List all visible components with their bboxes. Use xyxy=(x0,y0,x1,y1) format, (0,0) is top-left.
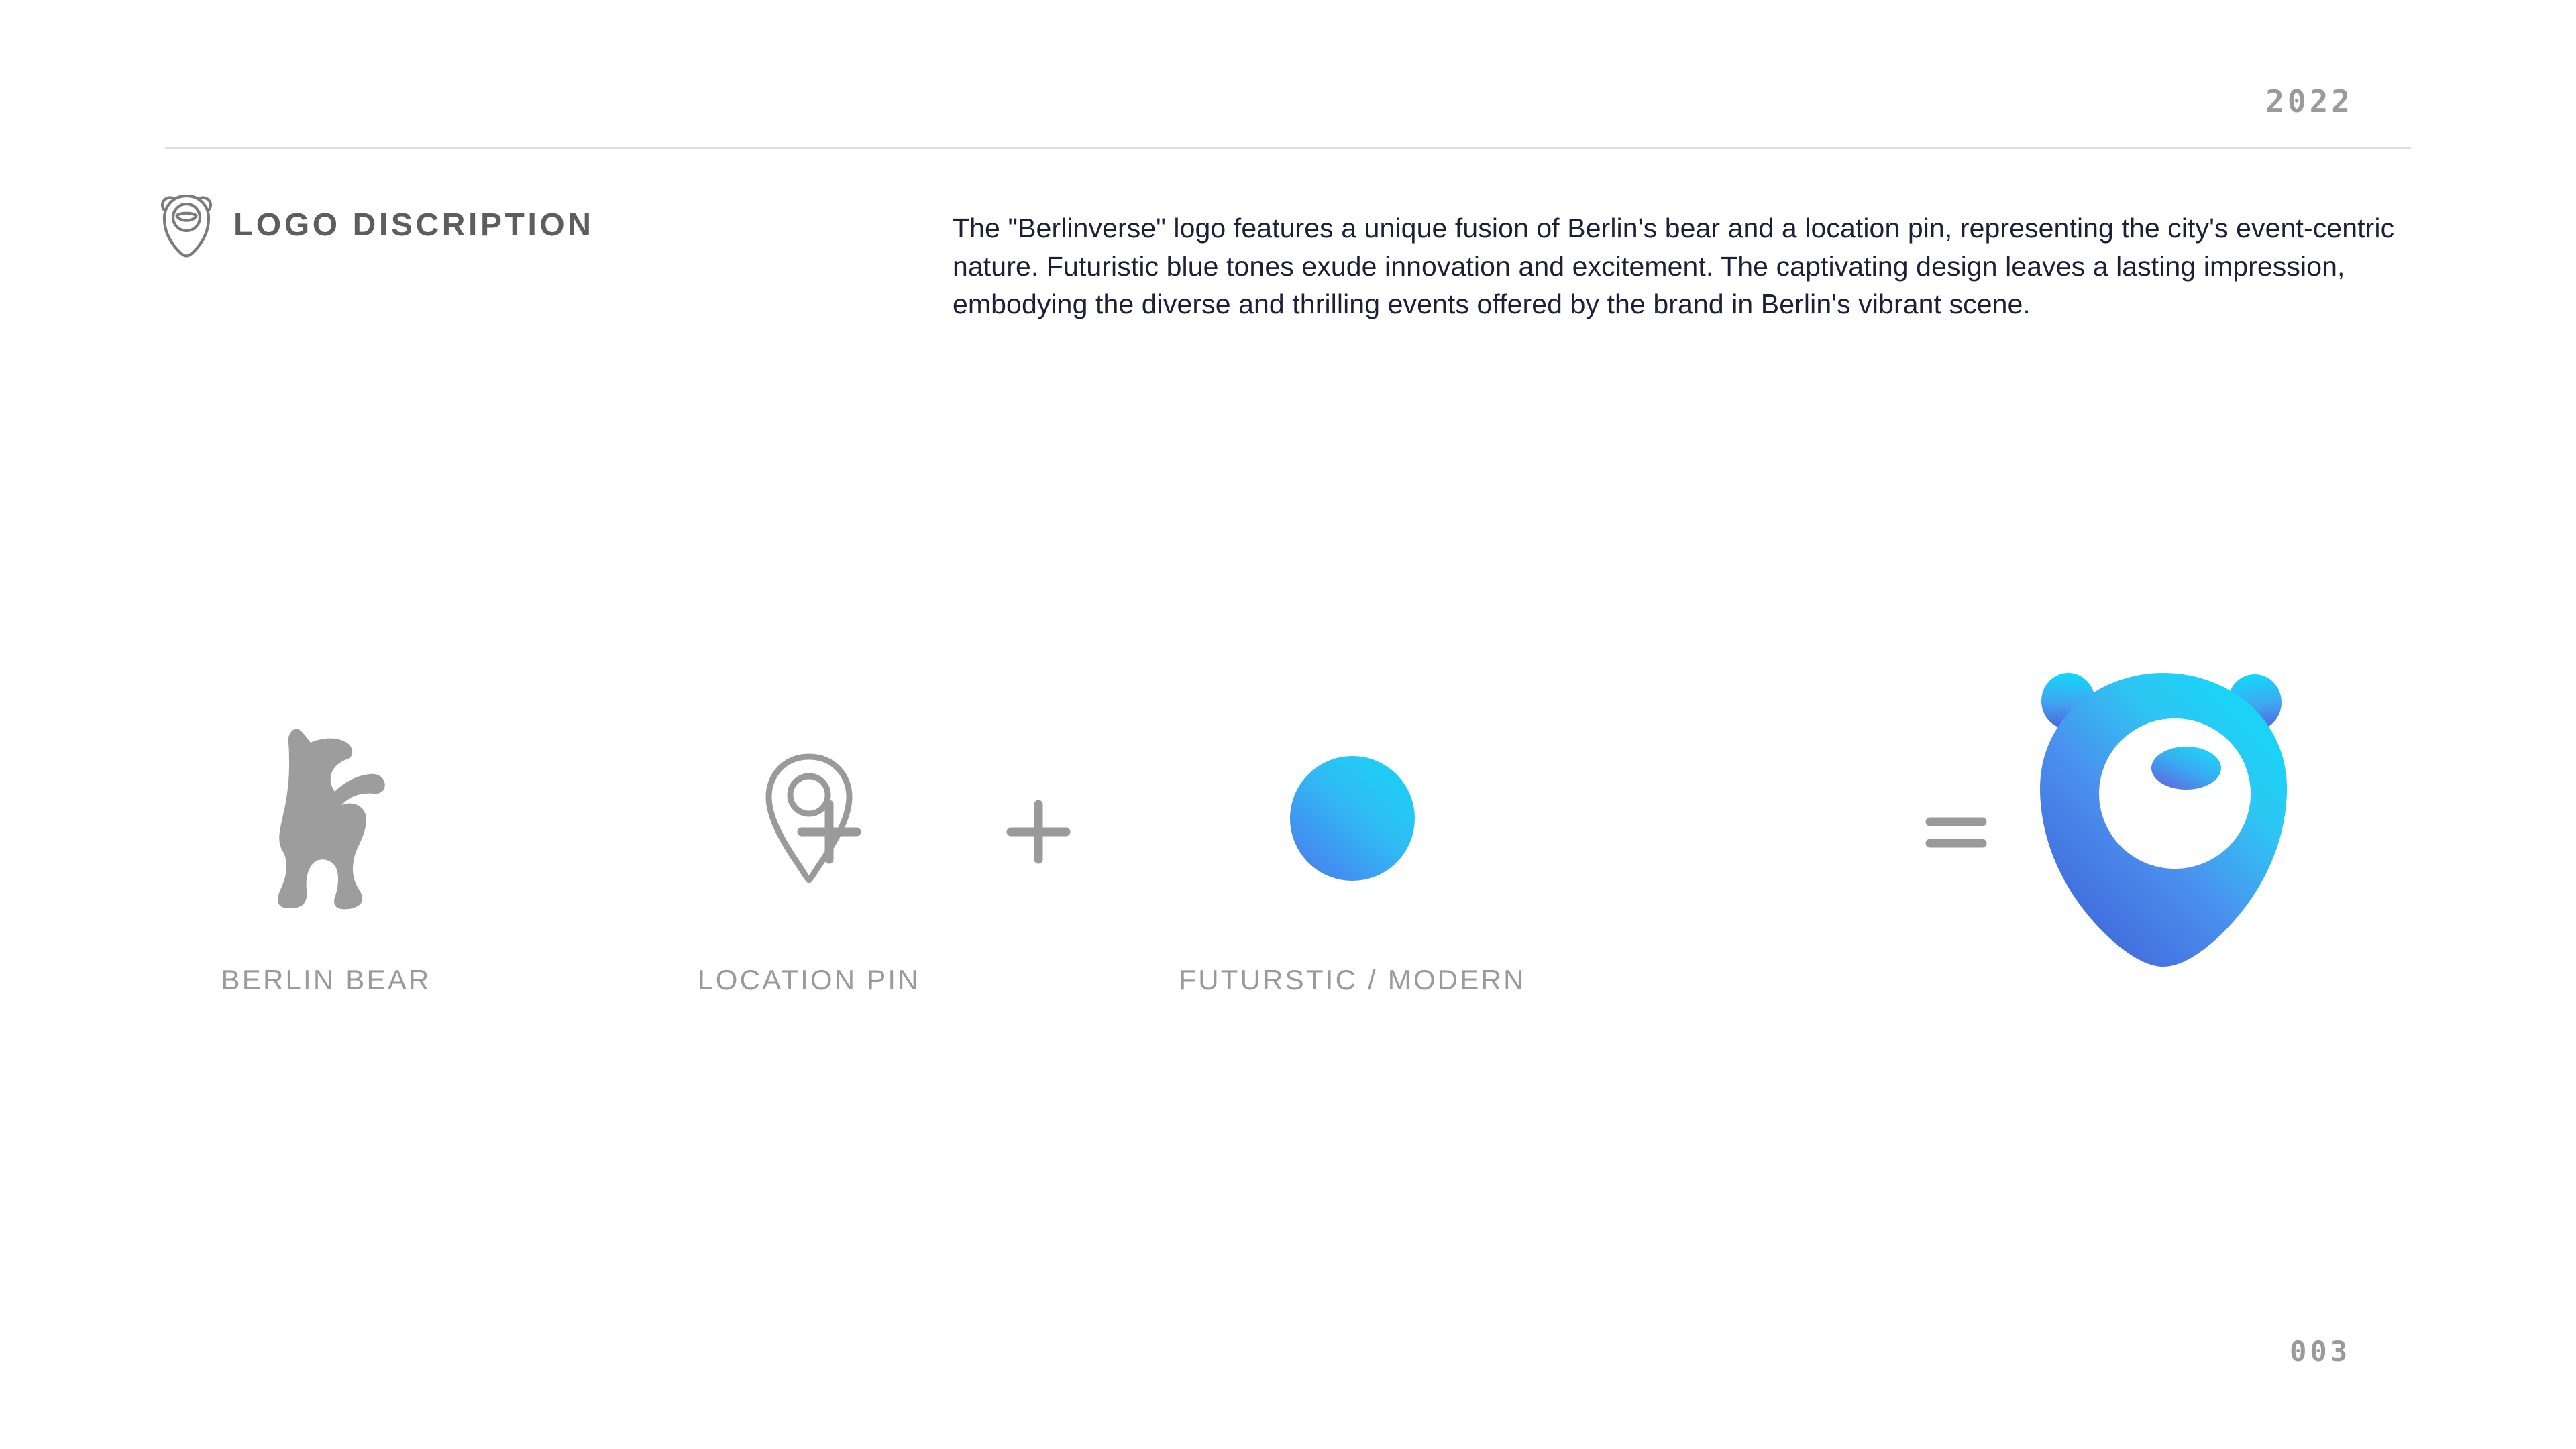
year-label: 2022 xyxy=(2265,86,2353,117)
berlin-bear-silhouette xyxy=(262,684,390,953)
bear-pin-icon xyxy=(158,193,215,258)
plus-icon xyxy=(998,792,1079,872)
gradient-circle xyxy=(1290,684,1415,953)
header-divider xyxy=(165,147,2411,149)
equals-icon xyxy=(1916,792,1996,872)
page-title: LOGO DISCRIPTION xyxy=(233,209,594,241)
logo-formula: BERLIN BEAR LOCATION PIN xyxy=(158,684,2418,1100)
location-pin-outline xyxy=(759,684,859,953)
formula-item-result-logo xyxy=(2010,684,2318,1100)
formula-label-location-pin: LOCATION PIN xyxy=(698,966,920,994)
slide-canvas: 2022 LOGO DISCRIPTION The "Berlinverse" … xyxy=(0,0,2576,1449)
formula-label-berlin-bear: BERLIN BEAR xyxy=(221,966,431,994)
header: LOGO DISCRIPTION xyxy=(158,193,594,258)
page-number: 003 xyxy=(2290,1338,2351,1366)
formula-item-futurstic-modern: FUTURSTIC / MODERN xyxy=(1097,684,1607,1100)
formula-label-futurstic-modern: FUTURSTIC / MODERN xyxy=(1179,966,1525,994)
logo-description-text: The "Berlinverse" logo features a unique… xyxy=(953,209,2485,323)
formula-item-berlin-bear: BERLIN BEAR xyxy=(185,684,467,1100)
formula-item-location-pin: LOCATION PIN xyxy=(668,684,950,1100)
berlinverse-logo xyxy=(2033,684,2295,953)
